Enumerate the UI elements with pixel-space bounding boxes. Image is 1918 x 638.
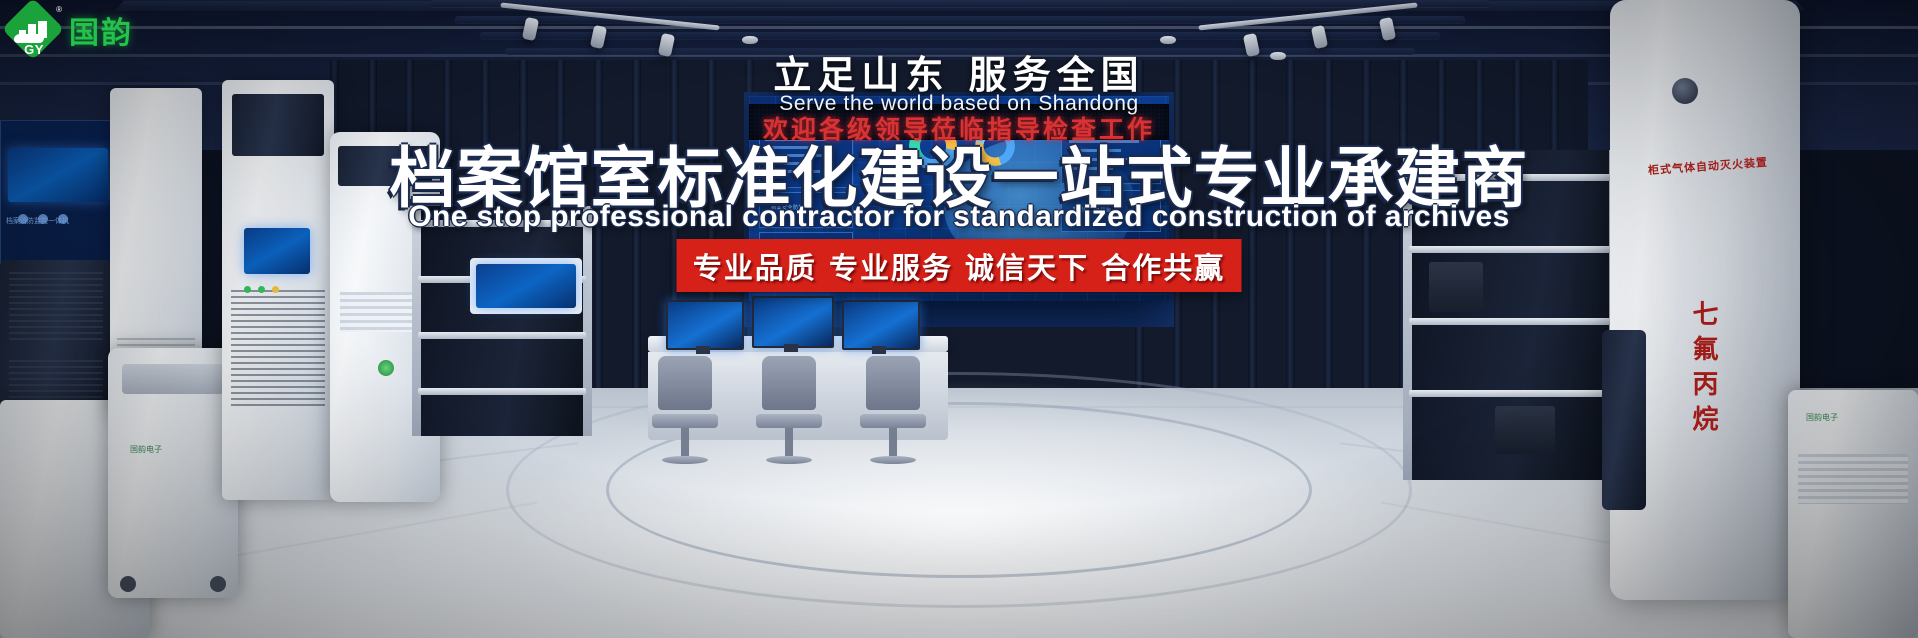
text-overlay: GY ® 国韵 立足山东 服务全国 Serve the world based … — [0, 0, 1918, 638]
slogan-chinese: 立足山东 服务全国 — [0, 44, 1918, 99]
headline-english: One stop professional contractor for sta… — [0, 200, 1918, 234]
hero-banner: 档案管理综合平台 档案安全防护 全面业务监管 智能库房环境监测 — [0, 0, 1918, 638]
value-proposition-text: 专业品质 专业服务 诚信天下 合作共赢 — [693, 245, 1225, 287]
registered-icon: ® — [56, 5, 62, 14]
fire-agent-vertical-label: 七氟丙烷 — [1685, 300, 1722, 440]
value-proposition-banner[interactable]: 专业品质 专业服务 诚信天下 合作共赢 — [677, 239, 1242, 292]
